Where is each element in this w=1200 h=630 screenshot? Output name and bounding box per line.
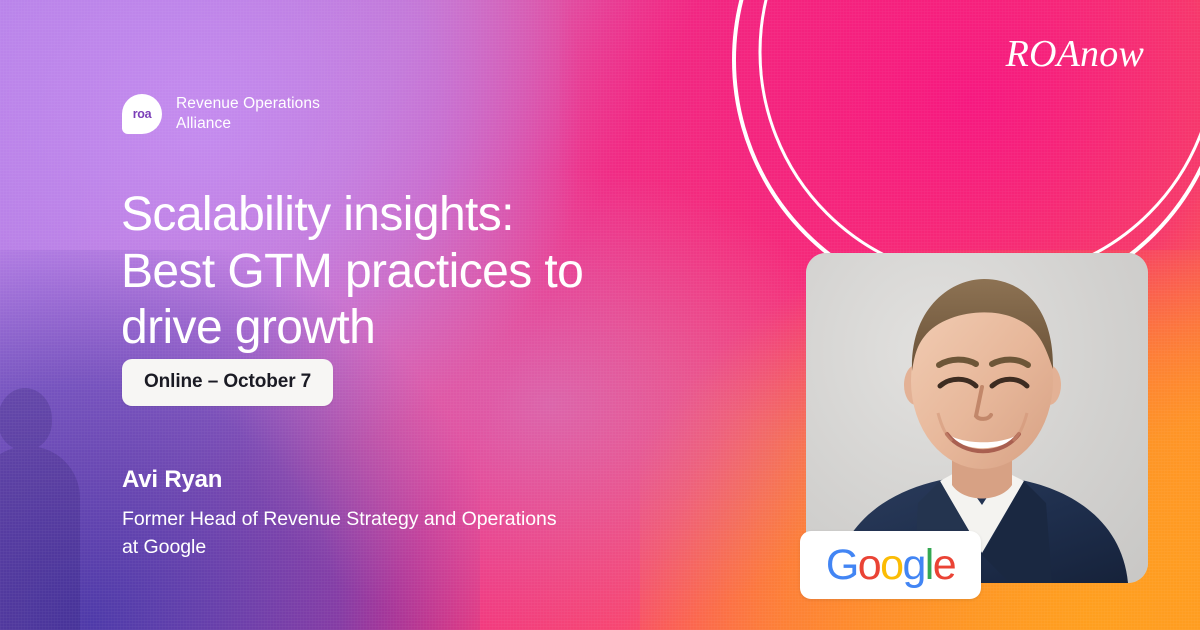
brand-lockup: roa Revenue Operations Alliance [122,94,320,134]
speaker-role-line-1: Former Head of Revenue Strategy and Oper… [122,506,702,534]
google-letter-0: G [826,541,858,589]
speaker-name: Avi Ryan [122,466,222,494]
roanow-wordmark: ROAnow [1006,32,1144,76]
roa-logo-icon: roa [122,94,162,134]
headline-line-2: Best GTM practices to [121,244,721,301]
google-wordmark: Google [826,544,955,587]
google-letter-3: g [902,541,924,589]
page-title: Scalability insights: Best GTM practices… [121,187,721,357]
headline-line-1: Scalability insights: [121,187,721,244]
event-date-badge: Online – October 7 [122,359,333,406]
google-letter-4: l [925,541,933,589]
company-logo-badge: Google [800,531,981,599]
brand-name-line1: Revenue Operations [176,95,320,112]
google-letter-5: e [933,541,955,589]
brand-name-line2: Alliance [176,115,231,132]
google-letter-1: o [858,541,880,589]
logo-mark-text: roa [122,94,162,134]
speaker-role: Former Head of Revenue Strategy and Oper… [122,506,702,561]
headline-line-3: drive growth [121,300,721,357]
google-letter-2: o [880,541,902,589]
speaker-role-line-2: at Google [122,534,702,562]
webinar-promo-graphic: roa Revenue Operations Alliance ROAnow S… [0,0,1200,630]
brand-name: Revenue Operations Alliance [176,94,320,134]
